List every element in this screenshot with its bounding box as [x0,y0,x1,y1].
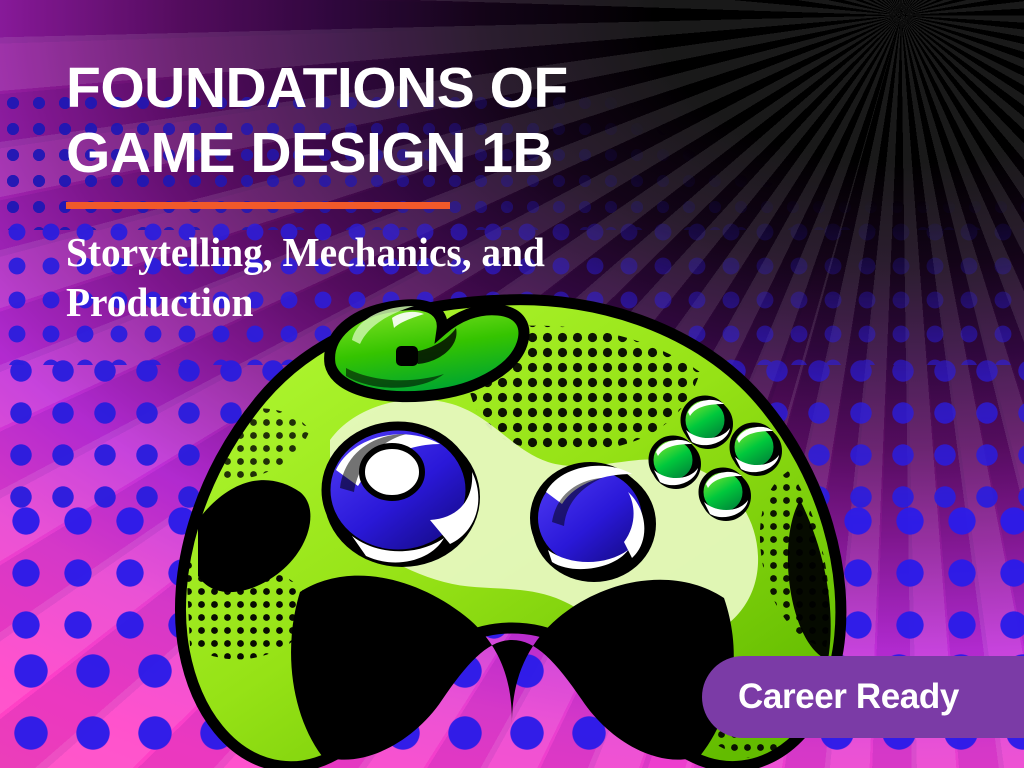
status-badge: Career Ready [702,656,1024,738]
status-badge-label: Career Ready [738,677,959,717]
poster-text-block: FOUNDATIONS OF GAME DESIGN 1B Storytelli… [66,56,826,327]
left-analog-stick [324,426,480,567]
title-accent-rule [66,202,450,209]
page-title: FOUNDATIONS OF GAME DESIGN 1B [66,56,826,186]
right-analog-stick [532,466,656,582]
course-poster: FOUNDATIONS OF GAME DESIGN 1B Storytelli… [0,0,1024,768]
course-subtitle: Storytelling, Mechanics, and Production [66,227,796,327]
